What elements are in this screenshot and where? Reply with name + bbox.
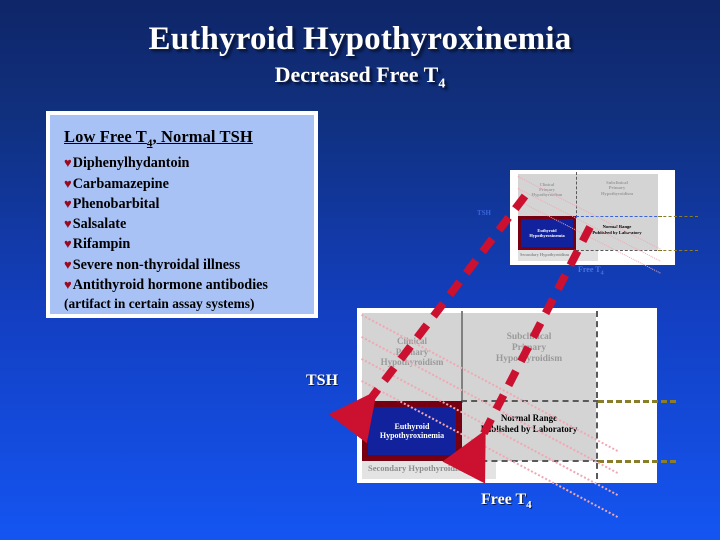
heart-bullet-icon: ♥ [64, 236, 72, 251]
list-item: ♥Diphenylhydantoin [64, 153, 314, 173]
vertical-divider-right [596, 311, 598, 479]
slide-canvas: Euthyroid Hypothyroxinemia Decreased Fre… [0, 0, 720, 540]
main-diagram[interactable]: Euthyroid Hypothyroxinemia Clinical Prim… [357, 308, 657, 483]
highlight-line2: Hypothyroxinemia [380, 431, 444, 440]
thumb-horizontal-divider-upper [576, 216, 662, 217]
label-subclinical-primary-hypothyroidism: Subclinical Primary Hypothyroidism [462, 332, 596, 366]
thumb-label-secondary-hypothyroidism: Secondary Hypothyroidism [520, 252, 569, 257]
list-item: ♥Salsalate [64, 214, 314, 234]
list-item-label: Salsalate [73, 216, 127, 232]
list-item: ♥Severe non-thyroidal illness [64, 255, 314, 275]
tr-line2: Primary [462, 343, 596, 354]
list-item-label: Severe non-thyroidal illness [73, 257, 240, 273]
thumb-br-line2: Published by Laboratory [576, 230, 658, 236]
thumb-highlight-line2: Hypothyroxinemia [529, 233, 564, 238]
slide-title-block: Euthyroid Hypothyroxinemia Decreased Fre… [0, 22, 720, 92]
axis-x-sub: 4 [526, 499, 532, 511]
slide-subtitle: Decreased Free T4 [0, 62, 720, 92]
list-item-label: Antithyroid hormone antibodies [73, 277, 268, 293]
normal-range-extension-upper [598, 400, 676, 403]
list-item: ♥Carbamazepine [64, 174, 314, 194]
list-item: ♥Phenobarbital [64, 194, 314, 214]
heart-bullet-icon: ♥ [64, 277, 72, 292]
tr-line1: Subclinical [462, 332, 596, 343]
axis-label-tsh: TSH [306, 372, 338, 390]
list-item: ♥Antithyroid hormone antibodies [64, 275, 314, 295]
horizontal-divider-lower [461, 460, 599, 462]
thumb-euthyroid-hypothyroxinemia-box[interactable]: Euthyroid Hypothyroxinemia [518, 216, 576, 250]
tl-line2: Primary [362, 347, 462, 358]
axis-x-prefix: Free T [481, 491, 526, 508]
thumb-axis-label-free-t4: Free T4 [578, 265, 604, 277]
callout-heading-prefix: Low Free T [64, 127, 147, 146]
callout-heading-suffix: , Normal TSH [153, 127, 253, 146]
thumb-axis-x-prefix: Free T [578, 265, 601, 274]
highlight-line1: Euthyroid [380, 422, 444, 431]
axis-label-free-t4: Free T4 [481, 491, 532, 511]
tr-line3: Hypothyroidism [462, 354, 596, 365]
page-title: Euthyroid Hypothyroxinemia [0, 22, 720, 57]
callout-list: ♥Diphenylhydantoin ♥Carbamazepine ♥Pheno… [64, 153, 314, 295]
thumbnail-diagram[interactable]: Euthyroid Hypothyroxinemia Clinical Prim… [510, 170, 675, 265]
list-item-label: Carbamazepine [73, 176, 169, 192]
list-item-label: Rifampin [73, 236, 131, 252]
callout-heading: Low Free T4, Normal TSH [64, 127, 314, 149]
heart-bullet-icon: ♥ [64, 155, 72, 170]
low-free-t4-callout-box: Low Free T4, Normal TSH ♥Diphenylhydanto… [46, 111, 318, 318]
heart-bullet-icon: ♥ [64, 196, 72, 211]
thumb-label-subclinical-primary-hypothyroidism: Subclinical Primary Hypothyroidism [576, 180, 658, 196]
list-item-label: Phenobarbital [73, 196, 160, 212]
heart-bullet-icon: ♥ [64, 176, 72, 191]
normal-range-extension-lower [598, 460, 676, 463]
thumb-normal-range-extension-upper [658, 216, 698, 217]
callout-note: (artifact in certain assay systems) [64, 296, 314, 312]
heart-bullet-icon: ♥ [64, 216, 72, 231]
thumb-tr-line3: Hypothyroidism [576, 191, 658, 196]
slide-subtitle-text: Decreased Free T [275, 62, 439, 87]
thumb-axis-x-sub: 4 [601, 271, 604, 277]
list-item-label: Diphenylhydantoin [73, 155, 190, 171]
thumb-axis-label-tsh: TSH [477, 209, 491, 217]
thumb-normal-range-extension-lower [658, 250, 698, 251]
heart-bullet-icon: ♥ [64, 257, 72, 272]
label-secondary-hypothyroidism: Secondary Hypothyroidism [368, 463, 468, 473]
list-item: ♥Rifampin [64, 234, 314, 254]
euthyroid-hypothyroxinemia-box[interactable]: Euthyroid Hypothyroxinemia [362, 401, 462, 461]
slide-subtitle-subscript: 4 [438, 76, 445, 91]
